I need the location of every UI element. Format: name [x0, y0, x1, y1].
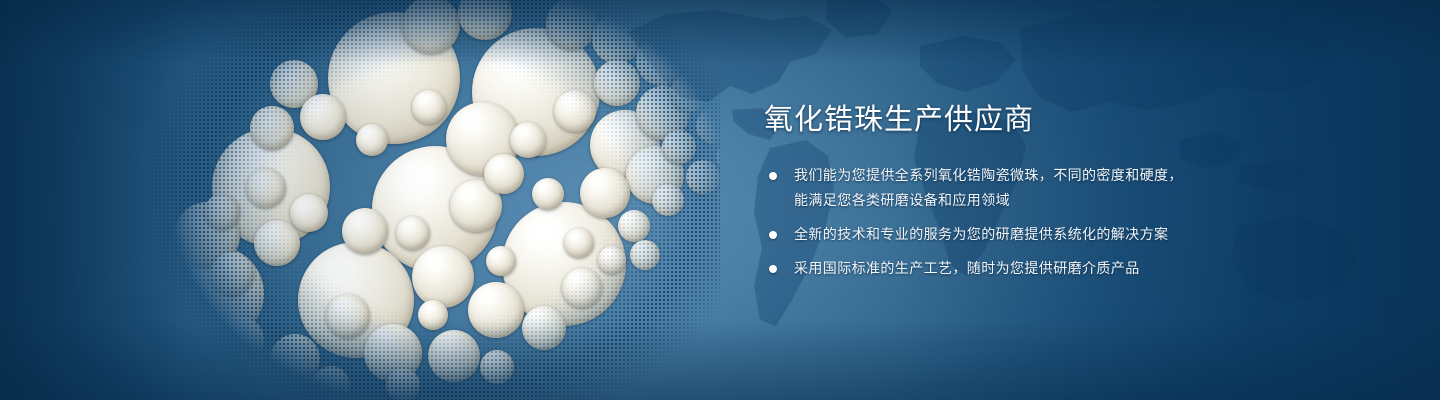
hero-banner: 氧化锆珠生产供应商 我们能为您提供全系列氧化锆陶瓷微珠，不同的密度和硬度， 能满… [0, 0, 1440, 400]
banner-bullet-list: 我们能为您提供全系列氧化锆陶瓷微珠，不同的密度和硬度， 能满足您各类研磨设备和应… [764, 163, 1234, 281]
bullet-dot-icon [769, 231, 777, 239]
banner-copy: 氧化锆珠生产供应商 我们能为您提供全系列氧化锆陶瓷微珠，不同的密度和硬度， 能满… [764, 104, 1234, 281]
bullet-dot-icon [769, 265, 777, 273]
bullet-line: 能满足您各类研磨设备和应用领域 [794, 188, 1234, 213]
bullet-item-3: 采用国际标准的生产工艺，随时为您提供研磨介质产品 [764, 256, 1234, 281]
bullet-dot-icon [769, 172, 777, 180]
bullet-line: 我们能为您提供全系列氧化锆陶瓷微珠，不同的密度和硬度， [794, 163, 1234, 188]
bullet-line: 采用国际标准的生产工艺，随时为您提供研磨介质产品 [794, 256, 1234, 281]
bullet-item-2: 全新的技术和专业的服务为您的研磨提供系统化的解决方案 [764, 222, 1234, 247]
banner-headline: 氧化锆珠生产供应商 [764, 104, 1234, 137]
bullet-item-1: 我们能为您提供全系列氧化锆陶瓷微珠，不同的密度和硬度， 能满足您各类研磨设备和应… [764, 163, 1234, 213]
bullet-line: 全新的技术和专业的服务为您的研磨提供系统化的解决方案 [794, 222, 1234, 247]
